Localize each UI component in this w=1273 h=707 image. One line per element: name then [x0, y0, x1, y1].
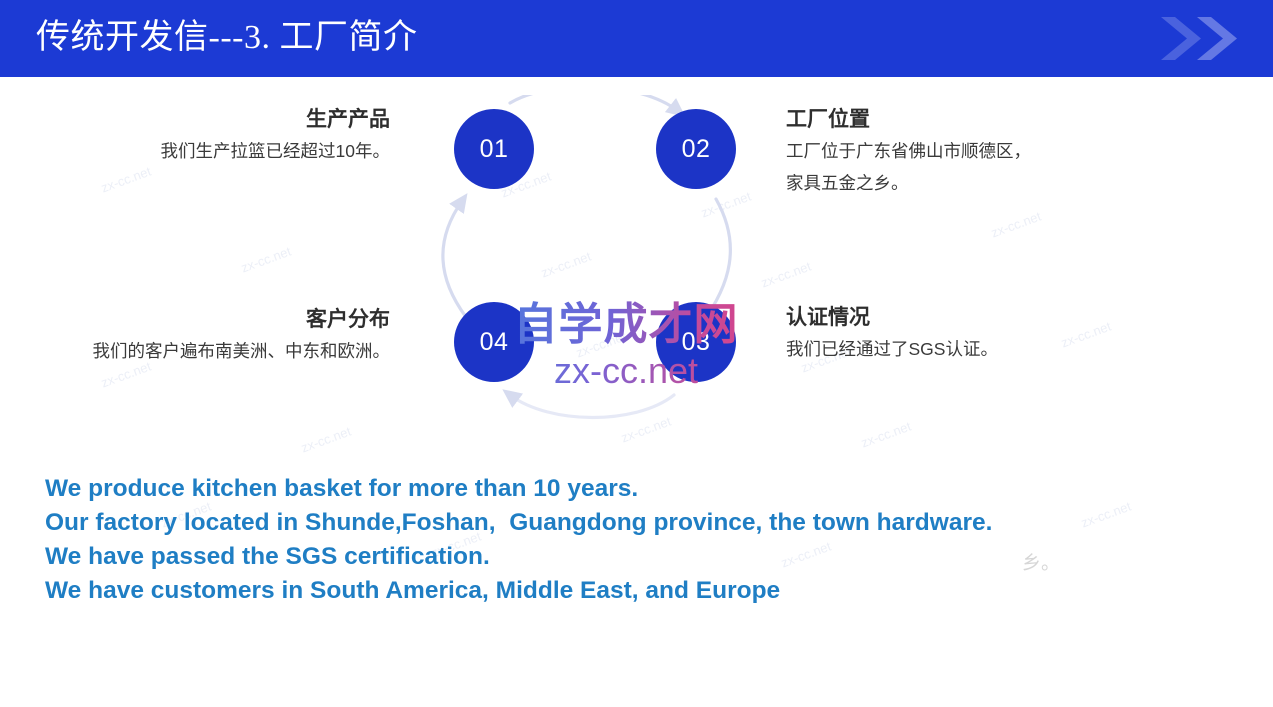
- cycle-node-number: 02: [682, 135, 711, 164]
- watermark-tile: zx-cc.net: [859, 419, 913, 451]
- cycle-node-03[interactable]: 03: [656, 302, 736, 382]
- cycle-text-block-04: 客户分布 我们的客户遍布南美洲、中东和欧洲。: [60, 305, 390, 367]
- slide-canvas: 传统开发信---3. 工厂简介 zx-cc.net zx-cc.net zx-c…: [0, 0, 1273, 707]
- cycle-node-01[interactable]: 01: [454, 109, 534, 189]
- cycle-text-body-04: 我们的客户遍布南美洲、中东和欧洲。: [60, 335, 390, 367]
- english-line-2: Our factory located in Shunde,Foshan, Gu…: [45, 506, 1055, 540]
- cycle-diagram: 01 02 03 04: [390, 95, 790, 475]
- watermark-tile: zx-cc.net: [99, 164, 153, 196]
- cycle-text-title-02: 工厂位置: [786, 105, 1046, 135]
- cycle-text-body-03: 我们已经通过了SGS认证。: [786, 333, 1096, 365]
- watermark-tile: zx-cc.net: [299, 424, 353, 456]
- cycle-node-number: 01: [480, 135, 509, 164]
- cycle-text-title-01: 生产产品: [60, 105, 390, 135]
- page-title: 传统开发信---3. 工厂简介: [36, 12, 417, 64]
- cycle-text-block-03: 认证情况 我们已经通过了SGS认证。: [786, 303, 1096, 365]
- cycle-text-title-03: 认证情况: [786, 303, 1096, 333]
- double-chevron-right-icon: [1159, 11, 1245, 66]
- cycle-text-title-04: 客户分布: [60, 305, 390, 335]
- cycle-node-04[interactable]: 04: [454, 302, 534, 382]
- arrow-01-to-02: [510, 95, 678, 111]
- cycle-node-number: 03: [682, 328, 711, 357]
- cycle-text-body-01: 我们生产拉篮已经超过10年。: [60, 135, 390, 167]
- watermark-tile: zx-cc.net: [1079, 499, 1133, 531]
- arrow-03-to-04: [510, 395, 674, 418]
- cycle-node-number: 04: [480, 328, 509, 357]
- english-summary-block: We produce kitchen basket for more than …: [45, 472, 1055, 608]
- header-bar: 传统开发信---3. 工厂简介: [0, 0, 1273, 77]
- cycle-node-02[interactable]: 02: [656, 109, 736, 189]
- english-line-3: We have passed the SGS certification.: [45, 540, 1055, 574]
- cycle-text-body-02: 工厂位于广东省佛山市顺德区，家具五金之乡。: [786, 135, 1046, 199]
- english-line-4: We have customers in South America, Midd…: [45, 574, 1055, 608]
- cycle-text-block-02: 工厂位置 工厂位于广东省佛山市顺德区，家具五金之乡。: [786, 105, 1046, 199]
- watermark-tile: zx-cc.net: [239, 244, 293, 276]
- english-line-1: We produce kitchen basket for more than …: [45, 472, 1055, 506]
- arrow-04-to-01: [443, 201, 466, 317]
- watermark-tile: zx-cc.net: [989, 209, 1043, 241]
- cycle-text-block-01: 生产产品 我们生产拉篮已经超过10年。: [60, 105, 390, 167]
